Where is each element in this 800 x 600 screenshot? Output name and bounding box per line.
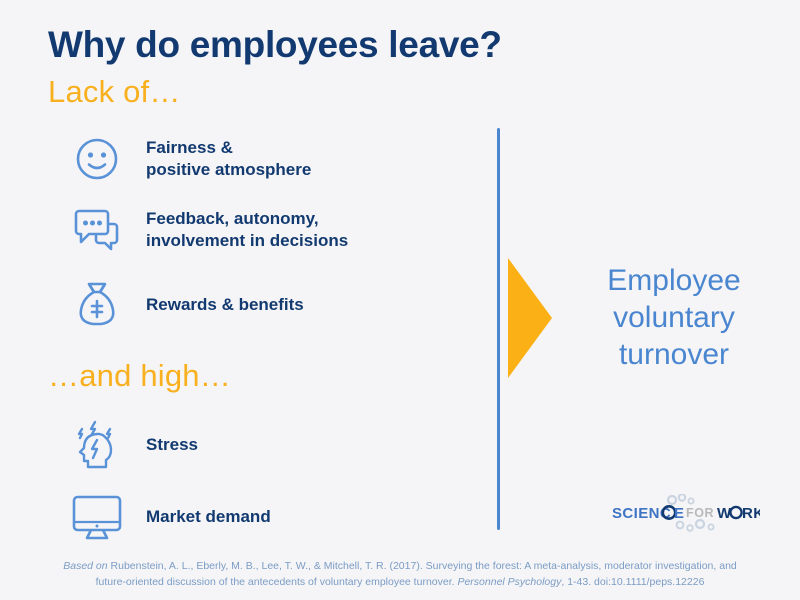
citation-authors: Rubenstein, A. L., Eberly, M. B., Lee, T… <box>108 560 737 572</box>
logo-text-e: E <box>674 505 684 522</box>
outcome-text: Employee voluntary turnover <box>560 262 788 374</box>
stressed-head-icon <box>66 414 128 476</box>
list-item-fairness: Fairness & positive atmosphere <box>66 128 466 190</box>
list-item-label: Feedback, autonomy, involvement in decis… <box>146 208 348 253</box>
vertical-divider <box>497 128 500 530</box>
list-item-rewards: Rewards & benefits <box>66 274 466 336</box>
list-item-feedback: Feedback, autonomy, involvement in decis… <box>66 199 466 261</box>
slide-canvas: Why do employees leave? Lack of… Fairnes… <box>0 0 800 600</box>
citation-journal: Personnel Psychology <box>457 576 561 588</box>
citation-line-2: future-oriented discussion of the antece… <box>96 576 705 588</box>
list-item-label: Rewards & benefits <box>146 294 304 316</box>
logo-gear-o-icon <box>730 507 741 518</box>
citation-line2-pre: future-oriented discussion of the antece… <box>96 576 458 588</box>
logo-text-rk: RK <box>742 505 760 522</box>
list-item-market-demand: Market demand <box>66 486 466 548</box>
list-item-label: Stress <box>146 434 198 456</box>
smiley-face-icon <box>66 128 128 190</box>
citation-line-1: Based on Rubenstein, A. L., Eberly, M. B… <box>63 560 737 572</box>
speech-bubbles-icon <box>66 199 128 261</box>
subtitle-lack-of: Lack of… <box>48 74 181 110</box>
logo-text-for: FOR <box>686 506 714 520</box>
money-bag-icon <box>66 274 128 336</box>
desktop-monitor-icon <box>66 486 128 548</box>
right-arrow-triangle-icon <box>508 258 552 378</box>
list-item-label: Fairness & positive atmosphere <box>146 137 311 182</box>
citation-based-on: Based on <box>63 560 107 572</box>
subtitle-and-high: …and high… <box>48 358 231 394</box>
page-title: Why do employees leave? <box>48 24 502 66</box>
list-item-label: Market demand <box>146 506 271 528</box>
citation-doi: , 1-43. doi:10.1111/peps.12226 <box>561 576 704 588</box>
citation-footer: Based on Rubenstein, A. L., Eberly, M. B… <box>0 558 800 591</box>
list-item-stress: Stress <box>66 414 466 476</box>
science-for-work-logo[interactable]: SCIENC E FOR W RK <box>612 494 760 532</box>
